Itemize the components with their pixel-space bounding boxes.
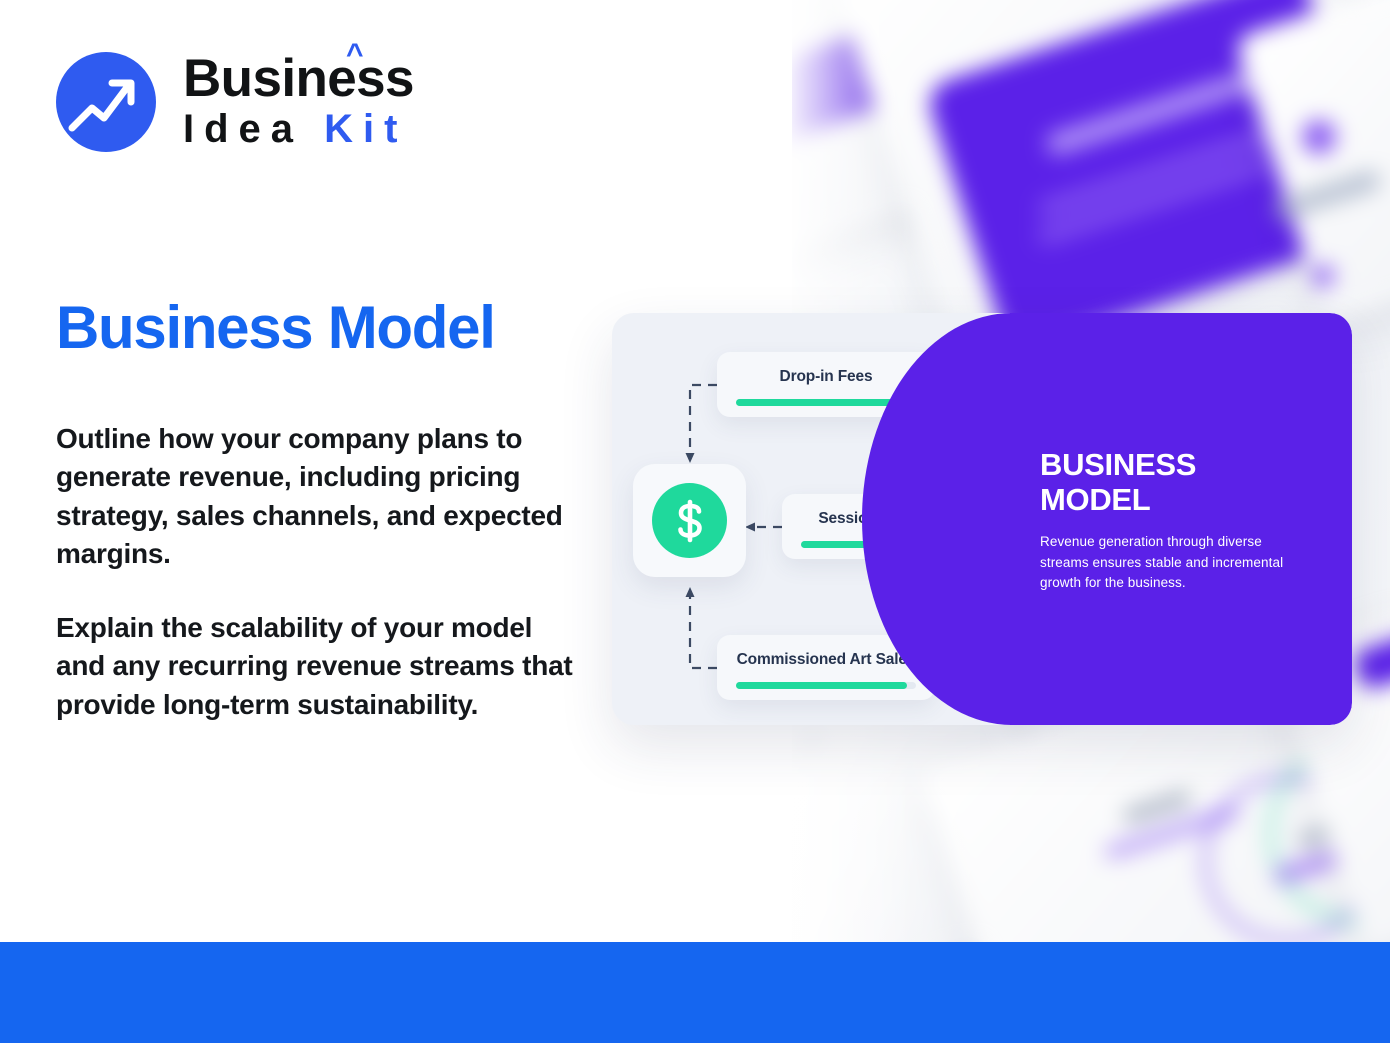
business-model-summary-panel: BUSINESS MODEL Revenue generation throug… xyxy=(1010,313,1352,725)
brand-name-line1: Business ^ xyxy=(183,53,414,105)
panel-description: Revenue generation through diverse strea… xyxy=(1040,532,1285,594)
page-title: Business Model xyxy=(56,296,495,359)
brand-name-kit: Kit xyxy=(324,107,407,151)
brand-logo: Business ^ Idea Kit xyxy=(56,52,414,152)
brand-name-idea: Idea xyxy=(183,107,303,151)
revenue-hub-tile xyxy=(633,464,746,577)
revenue-stream-progress-fill xyxy=(736,682,907,689)
brand-accent-caret-icon: ^ xyxy=(346,40,363,70)
revenue-stream-label: Commissioned Art Sales xyxy=(737,651,916,669)
business-model-diagram-card: Drop-in Fees Session Workshops Commissio… xyxy=(612,313,1352,725)
bg-dot xyxy=(1302,120,1336,154)
body-paragraph-1: Outline how your company plans to genera… xyxy=(56,420,586,573)
panel-title-line1: BUSINESS xyxy=(1040,448,1320,483)
panel-title: BUSINESS MODEL xyxy=(1040,448,1320,517)
brand-name-line1-text: Business xyxy=(183,49,414,108)
slide-root: Business ^ Idea Kit Business Model Outli… xyxy=(0,0,1390,1043)
revenue-stream-label: Drop-in Fees xyxy=(780,368,873,386)
panel-title-line2: MODEL xyxy=(1040,483,1320,518)
panel-content: BUSINESS MODEL Revenue generation throug… xyxy=(1040,448,1320,594)
revenue-stream-progress-track xyxy=(736,682,916,689)
body-paragraph-2: Explain the scalability of your model an… xyxy=(56,609,586,724)
trend-up-arrow-icon xyxy=(56,52,156,152)
revenue-stream-progress-fill xyxy=(736,399,907,406)
brand-wordmark: Business ^ Idea Kit xyxy=(183,53,414,151)
brand-name-line2: Idea Kit xyxy=(183,107,414,151)
bg-dot xyxy=(1312,265,1334,287)
dollar-sign-icon xyxy=(652,483,727,558)
footer-accent-bar xyxy=(0,942,1390,1043)
